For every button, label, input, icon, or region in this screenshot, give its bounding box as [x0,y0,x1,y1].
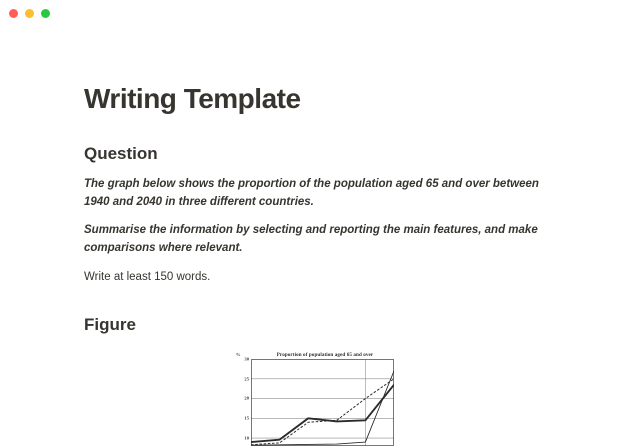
maximize-window-button[interactable] [41,9,50,18]
window-titlebar [0,0,640,26]
figure-heading: Figure [84,314,556,336]
close-window-button[interactable] [9,9,18,18]
figure-block: Proportion of population aged 65 and ove… [84,350,556,446]
chart-series-layer [251,371,394,445]
chart-gridlines [251,359,394,446]
chart-y-tick-25: 25 [244,376,249,381]
page-title: Writing Template [84,82,556,116]
chart-title: Proportion of population aged 65 and ove… [255,352,395,358]
question-prompt-line-1: The graph below shows the proportion of … [84,176,544,212]
chart-y-tick-15: 15 [244,416,249,421]
figure-chart-image: Proportion of population aged 65 and ove… [229,350,397,446]
question-word-count-note: Write at least 150 words. [84,269,544,287]
document-page: Writing Template Question The graph belo… [0,26,640,400]
question-prompt-line-2: Summarise the information by selecting a… [84,222,544,258]
chart-series-country-solid-thick [251,385,394,442]
chart-y-tick-30: 30 [244,356,249,361]
chart-y-tick-labels: 1015202530 [233,359,249,446]
chart-y-tick-20: 20 [244,396,249,401]
question-heading: Question [84,143,556,165]
document-body: Writing Template Question The graph belo… [0,82,640,446]
chart-y-axis-unit: % [236,352,241,357]
chart-plot-border [252,359,394,445]
chart-series-country-thin [251,371,394,445]
chart-plot-area [251,359,394,446]
chart-svg [251,359,394,446]
chart-y-tick-10: 10 [244,435,249,440]
minimize-window-button[interactable] [25,9,34,18]
